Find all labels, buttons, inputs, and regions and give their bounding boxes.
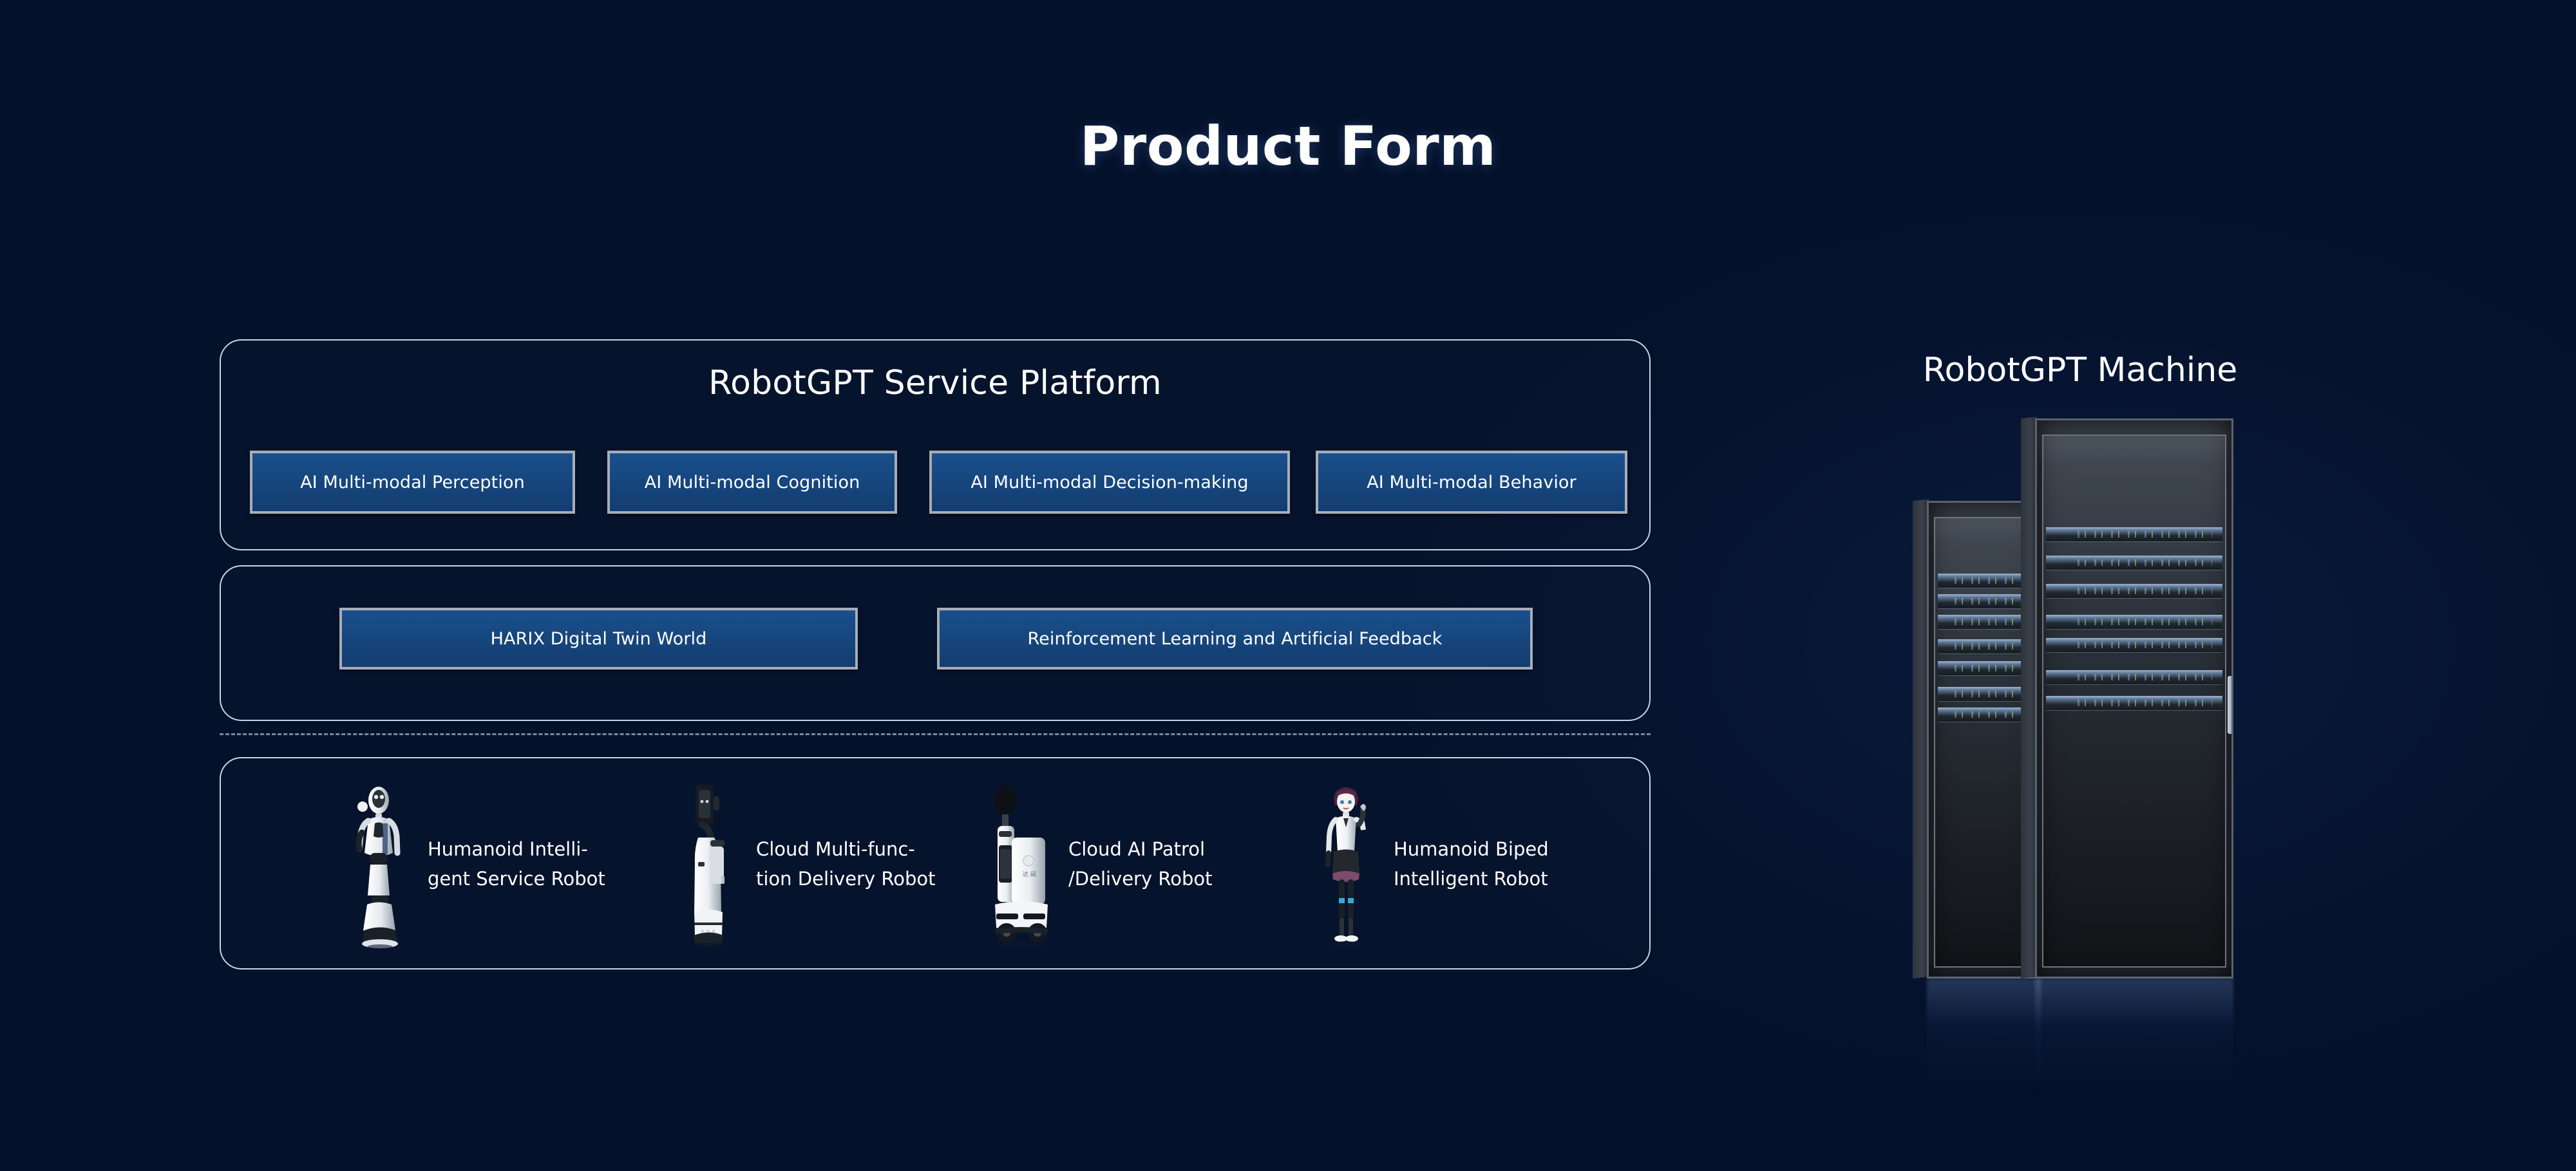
robot-list-item[interactable]: 达 闼 Cloud AI Patrol /Delivery Robot (982, 778, 1212, 951)
platform-panel-heading: RobotGPT Service Platform (221, 364, 1649, 402)
robot-list-item[interactable]: Humanoid Biped Intelligent Robot (1307, 778, 1549, 951)
robot-list-item[interactable]: Humanoid Intelli- gent Service Robot (341, 778, 605, 951)
biped-humanoid-robot-icon (1307, 778, 1385, 951)
dashed-divider (220, 733, 1651, 735)
card-ai-multimodal-cognition[interactable]: AI Multi-modal Cognition (607, 451, 897, 514)
machine-title: RobotGPT Machine (1855, 351, 2306, 389)
card-ai-multimodal-decision-making[interactable]: AI Multi-modal Decision-making (929, 451, 1290, 514)
robot-label: Cloud AI Patrol /Delivery Robot (1068, 835, 1212, 894)
platform-panel: RobotGPT Service Platform (220, 339, 1651, 550)
card-ai-multimodal-behavior[interactable]: AI Multi-modal Behavior (1316, 451, 1627, 514)
svg-text:达 闼: 达 闼 (1023, 870, 1036, 878)
server-rack-front (2021, 418, 2233, 979)
humanoid-service-robot-icon (341, 778, 419, 951)
robot-label: Humanoid Intelli- gent Service Robot (428, 835, 605, 894)
page-title: Product Form (0, 115, 2576, 178)
delivery-robot-icon: 8 8 8 (670, 778, 747, 951)
card-ai-multimodal-perception[interactable]: AI Multi-modal Perception (250, 451, 575, 514)
robot-label: Cloud Multi-func- tion Delivery Robot (756, 835, 935, 894)
robot-list-item[interactable]: 8 8 8 Cloud Multi-func- tion Delivery Ro… (670, 778, 935, 951)
server-rack-icon (1906, 418, 2267, 1030)
robot-label: Humanoid Biped Intelligent Robot (1394, 835, 1549, 894)
card-reinforcement-learning[interactable]: Reinforcement Learning and Artificial Fe… (937, 608, 1533, 670)
patrol-robot-icon: 达 闼 (982, 778, 1059, 951)
card-harix-digital-twin-world[interactable]: HARIX Digital Twin World (339, 608, 858, 670)
